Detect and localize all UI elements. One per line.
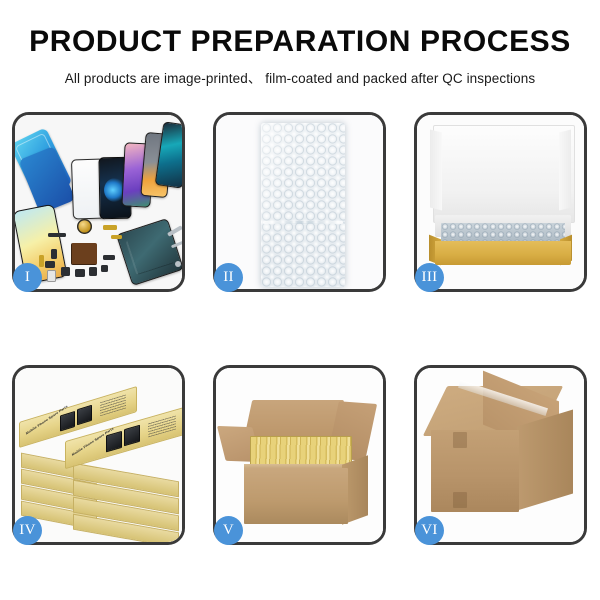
flex-cable-icon [103, 225, 117, 230]
mailer-lid-fold-left [430, 130, 442, 211]
box-window-back-1 [60, 411, 75, 432]
sim-tray-icon [47, 270, 56, 282]
carton-seal-mark-top [453, 432, 467, 448]
mailer-lid-fold-right [559, 130, 571, 211]
process-step-panel-1[interactable]: I [12, 112, 185, 292]
process-step-grid: I II III [12, 112, 588, 545]
flex-cable-2-icon [111, 235, 122, 239]
ribbon-part-icon [103, 255, 115, 260]
open-carton-scene [216, 368, 383, 542]
process-step-panel-4[interactable]: Mobile Phone Spare Parts Mobile Phone Sp… [12, 365, 185, 545]
speaker-part-icon [75, 269, 85, 277]
carton-seal-mark-bottom [453, 492, 467, 508]
small-part-icon [51, 249, 57, 259]
box-window-front-1 [106, 431, 122, 453]
button-part-icon [101, 265, 108, 272]
screw-icon [175, 261, 181, 267]
bubble-wrap-seam [263, 221, 343, 224]
process-step-panel-6[interactable]: VI [414, 365, 587, 545]
box-window-back-2 [77, 405, 92, 426]
phone-housing-icon [116, 218, 182, 286]
stacked-boxes-scene: Mobile Phone Spare Parts Mobile Phone Sp… [15, 368, 182, 542]
process-step-panel-2[interactable]: II [213, 112, 386, 292]
step-1-image [15, 115, 182, 289]
teal-phone-icon [155, 121, 182, 188]
phones-and-parts-scene [15, 115, 182, 289]
step-6-image [417, 368, 584, 542]
part-strip-icon [48, 233, 66, 237]
step-5-image [216, 368, 383, 542]
box-spec-lines-front [148, 414, 176, 437]
box-spec-lines-back [100, 394, 126, 416]
camera-module-icon [61, 267, 70, 276]
mailer-front-panel [435, 241, 571, 265]
step-3-image [417, 115, 584, 289]
box-window-front-2 [124, 425, 140, 447]
gold-coil-part-icon [77, 219, 92, 234]
step-badge-2: II [214, 263, 243, 292]
open-mailer-box-scene [417, 115, 584, 289]
carton-front-panel [244, 468, 348, 524]
page-title: PRODUCT PREPARATION PROCESS [0, 26, 600, 58]
carton-flap-back [244, 400, 345, 440]
battery-connector-icon [89, 267, 97, 276]
page-subtitle: All products are image-printed、 film-coa… [0, 67, 600, 87]
chip-grid-part-icon [71, 243, 97, 265]
bubble-wrap-icon [261, 123, 345, 287]
process-step-panel-3[interactable]: III [414, 112, 587, 292]
sealed-carton-scene [417, 368, 584, 542]
bubble-wrap-scene [216, 115, 383, 289]
step-badge-1: I [13, 263, 42, 292]
page-header: PRODUCT PREPARATION PROCESS All products… [0, 0, 600, 87]
box-stack: Mobile Phone Spare Parts Mobile Phone Sp… [15, 368, 182, 542]
step-badge-4: IV [13, 516, 42, 545]
flex-cable-3-icon [39, 255, 44, 267]
process-step-panel-5[interactable]: V [213, 365, 386, 545]
sealed-carton-front [431, 430, 519, 512]
step-badge-3: III [415, 263, 444, 292]
step-badge-5: V [214, 516, 243, 545]
mailer-lid-icon [433, 125, 575, 223]
small-part-2-icon [45, 261, 55, 268]
sealed-carton-side [517, 409, 573, 510]
step-2-image [216, 115, 383, 289]
step-4-image: Mobile Phone Spare Parts Mobile Phone Sp… [15, 368, 182, 542]
step-badge-6: VI [415, 516, 444, 545]
